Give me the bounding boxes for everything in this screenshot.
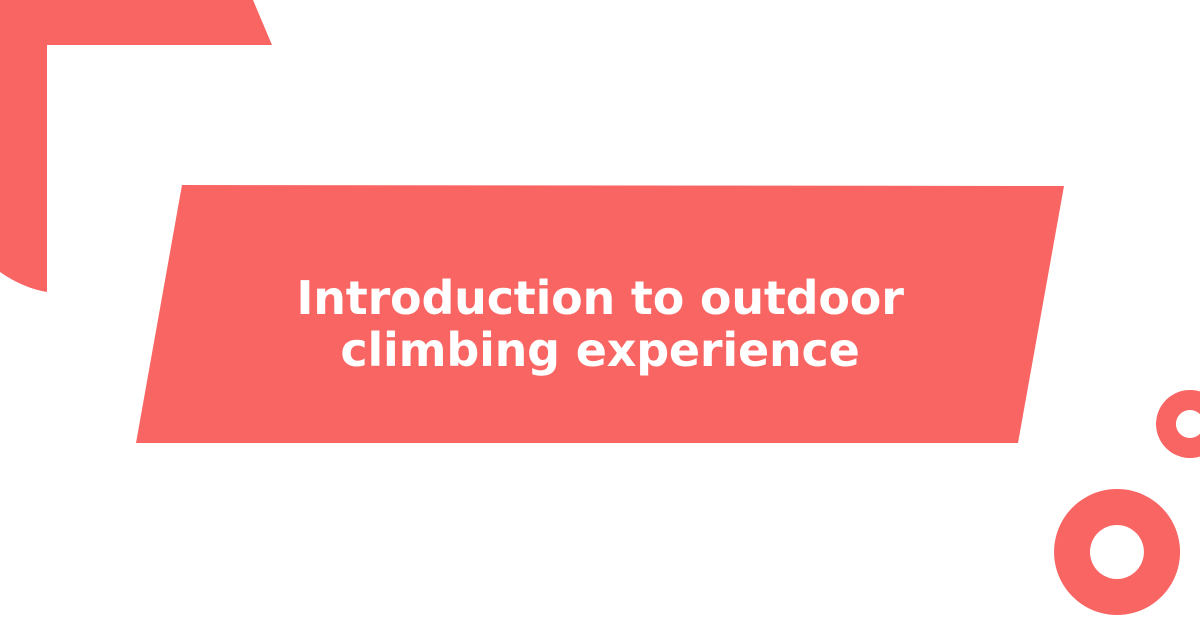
- banner-parallelogram: [136, 185, 1064, 443]
- ring-large-icon: [1054, 489, 1180, 615]
- banner-canvas: Introduction to outdoor climbing experie…: [0, 0, 1200, 630]
- decorative-artwork: [0, 0, 1200, 630]
- ring-small-icon: [1156, 390, 1200, 458]
